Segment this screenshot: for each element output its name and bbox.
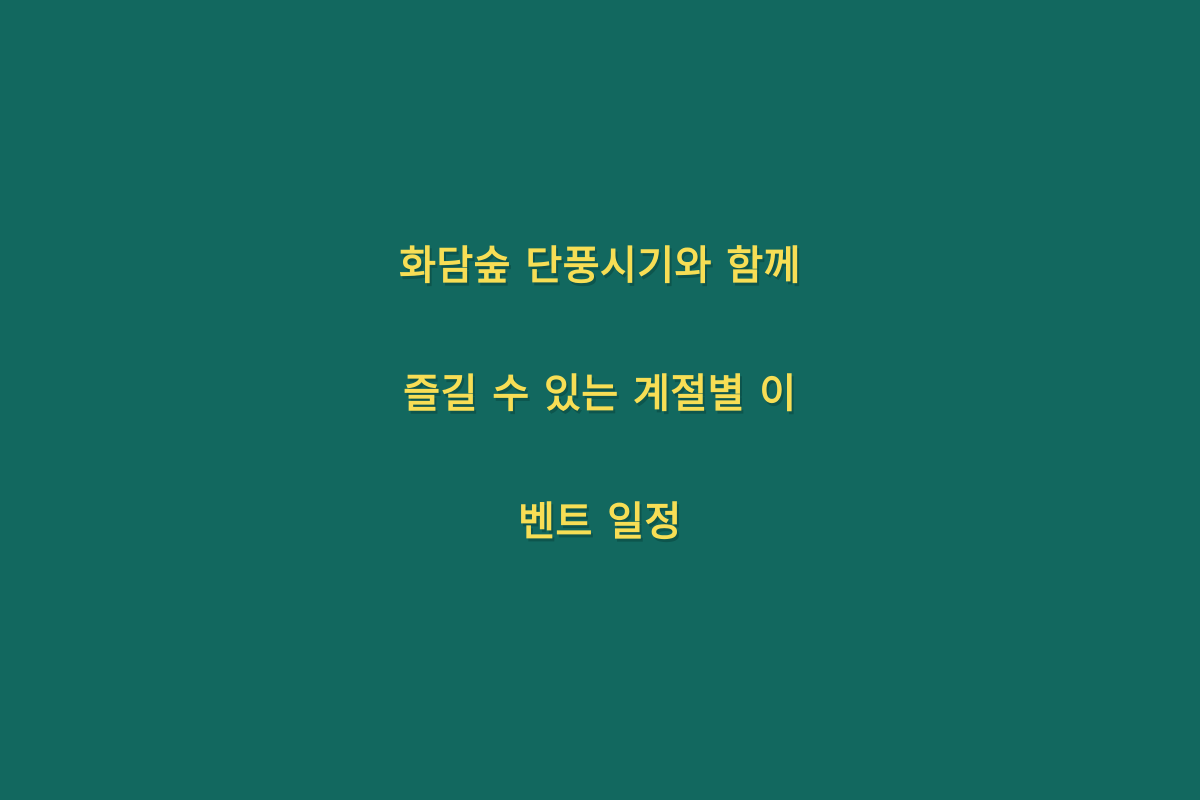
- headline-line-3: 벤트 일정: [60, 458, 1140, 586]
- thumbnail-card: 화담숲 단풍시기와 함께 즐길 수 있는 계절별 이 벤트 일정: [0, 0, 1200, 800]
- headline-line-1: 화담숲 단풍시기와 함께: [60, 202, 1140, 330]
- page-title: 화담숲 단풍시기와 함께 즐길 수 있는 계절별 이 벤트 일정: [50, 202, 1150, 586]
- headline-line-2: 즐길 수 있는 계절별 이: [60, 330, 1140, 458]
